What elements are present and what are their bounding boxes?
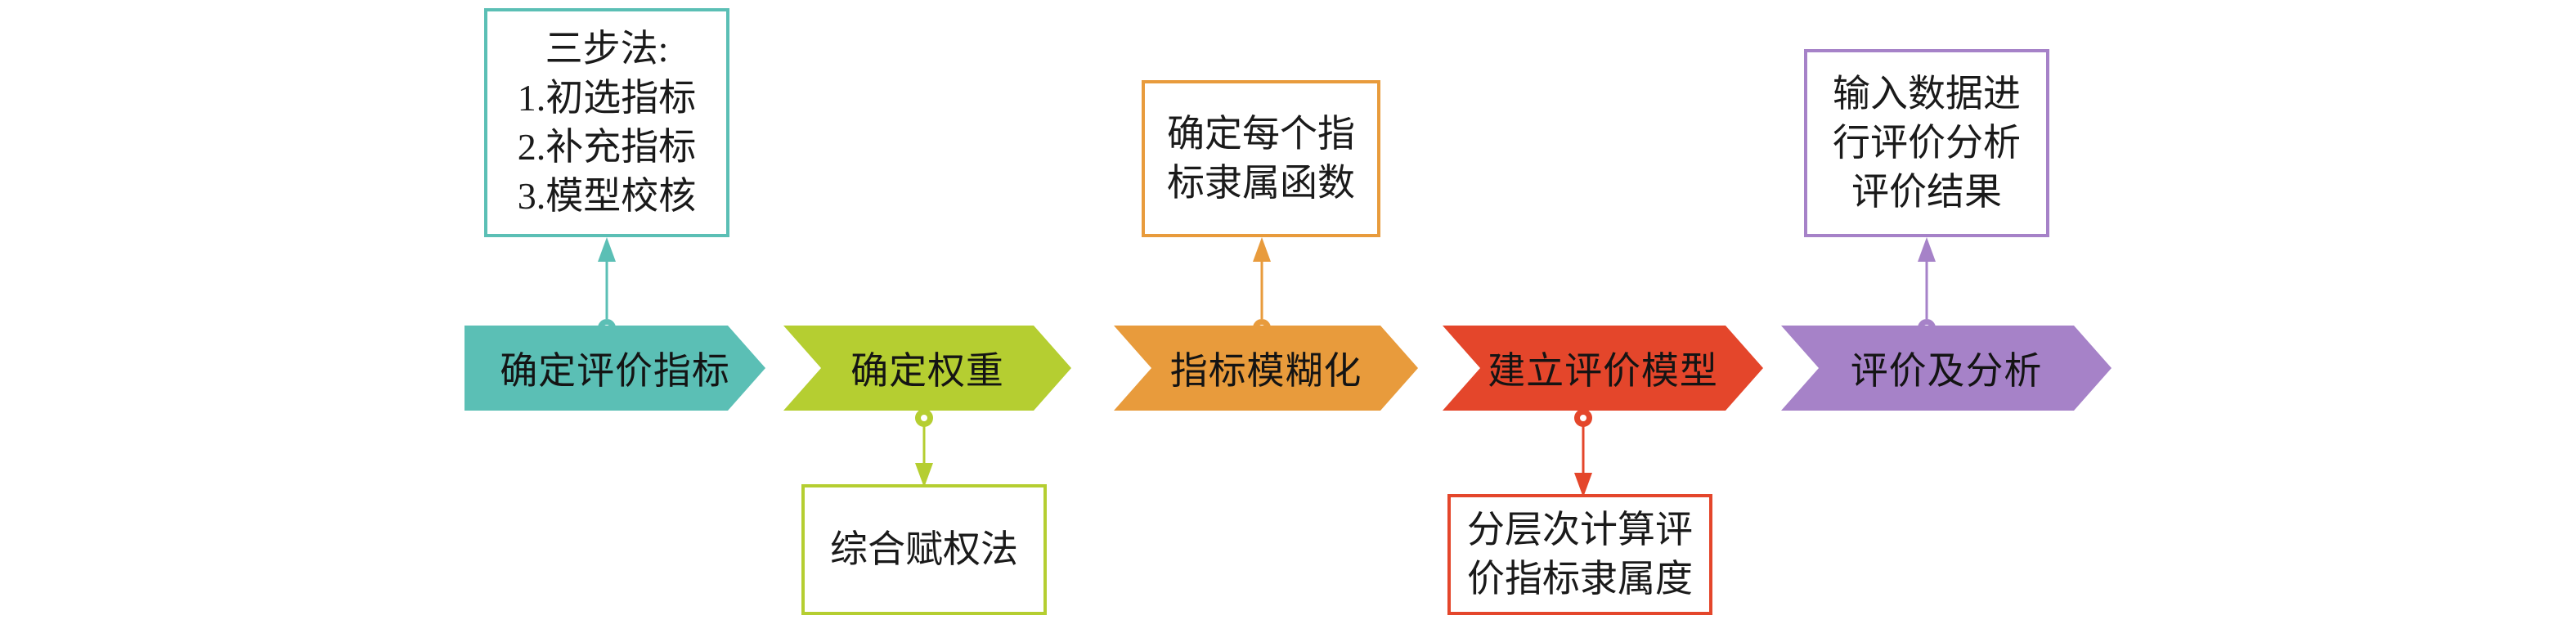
note-box-hierarchical-membership: 分层次计算评 价指标隶属度 bbox=[1447, 494, 1712, 615]
note-line: 2.补充指标 bbox=[518, 123, 697, 172]
note-box-input-data-analysis: 输入数据进 行评价分析 评价结果 bbox=[1804, 49, 2049, 237]
connector-step-1-to-note bbox=[586, 237, 628, 337]
connector-step-3-to-note bbox=[1241, 237, 1283, 337]
note-line: 行评价分析 bbox=[1833, 119, 2021, 168]
diagram-canvas: 三步法: 1.初选指标 2.补充指标 3.模型校核 确定每个指 标隶属函数 输入… bbox=[0, 0, 2576, 620]
arrowhead-up-icon bbox=[1253, 237, 1271, 262]
note-box-comprehensive-weighting: 综合赋权法 bbox=[801, 484, 1047, 615]
connector-step-5-to-note bbox=[1905, 237, 1948, 337]
connector-step-2-to-note bbox=[903, 409, 945, 487]
note-line: 1.初选指标 bbox=[518, 74, 697, 123]
note-line: 三步法: bbox=[545, 25, 669, 74]
process-step-fuzzify-indicators[interactable]: 指标模糊化 bbox=[1114, 326, 1418, 411]
process-step-evaluate-analyze[interactable]: 评价及分析 bbox=[1781, 326, 2112, 411]
connector-endpoint-circle bbox=[1574, 409, 1592, 427]
process-step-label: 确定权重 bbox=[850, 341, 1004, 395]
process-step-label: 确定评价指标 bbox=[500, 341, 730, 395]
note-line: 标隶属函数 bbox=[1167, 159, 1355, 208]
arrowhead-up-icon bbox=[598, 237, 616, 262]
process-step-label: 建立评价模型 bbox=[1488, 341, 1718, 395]
arrowhead-down-icon bbox=[1574, 473, 1592, 497]
note-box-three-step: 三步法: 1.初选指标 2.补充指标 3.模型校核 bbox=[484, 8, 729, 237]
note-line: 评价结果 bbox=[1851, 168, 2002, 217]
process-step-determine-indicators[interactable]: 确定评价指标 bbox=[464, 326, 765, 411]
note-box-membership-function: 确定每个指 标隶属函数 bbox=[1142, 80, 1380, 237]
arrowhead-down-icon bbox=[915, 463, 933, 487]
note-line: 综合赋权法 bbox=[830, 525, 1018, 574]
note-line: 确定每个指 bbox=[1167, 110, 1355, 159]
arrowhead-up-icon bbox=[1918, 237, 1936, 262]
process-step-label: 指标模糊化 bbox=[1170, 341, 1362, 395]
process-step-determine-weights[interactable]: 确定权重 bbox=[783, 326, 1071, 411]
connector-endpoint-circle bbox=[915, 409, 933, 427]
note-line: 3.模型校核 bbox=[518, 172, 697, 221]
connector-stem bbox=[923, 422, 926, 468]
process-step-label: 评价及分析 bbox=[1851, 341, 2043, 395]
note-line: 价指标隶属度 bbox=[1467, 555, 1693, 604]
process-step-build-model[interactable]: 建立评价模型 bbox=[1443, 326, 1763, 411]
note-line: 分层次计算评 bbox=[1467, 505, 1693, 555]
note-line: 输入数据进 bbox=[1833, 70, 2021, 119]
connector-step-4-to-note bbox=[1562, 409, 1604, 497]
connector-stem bbox=[1582, 422, 1585, 476]
